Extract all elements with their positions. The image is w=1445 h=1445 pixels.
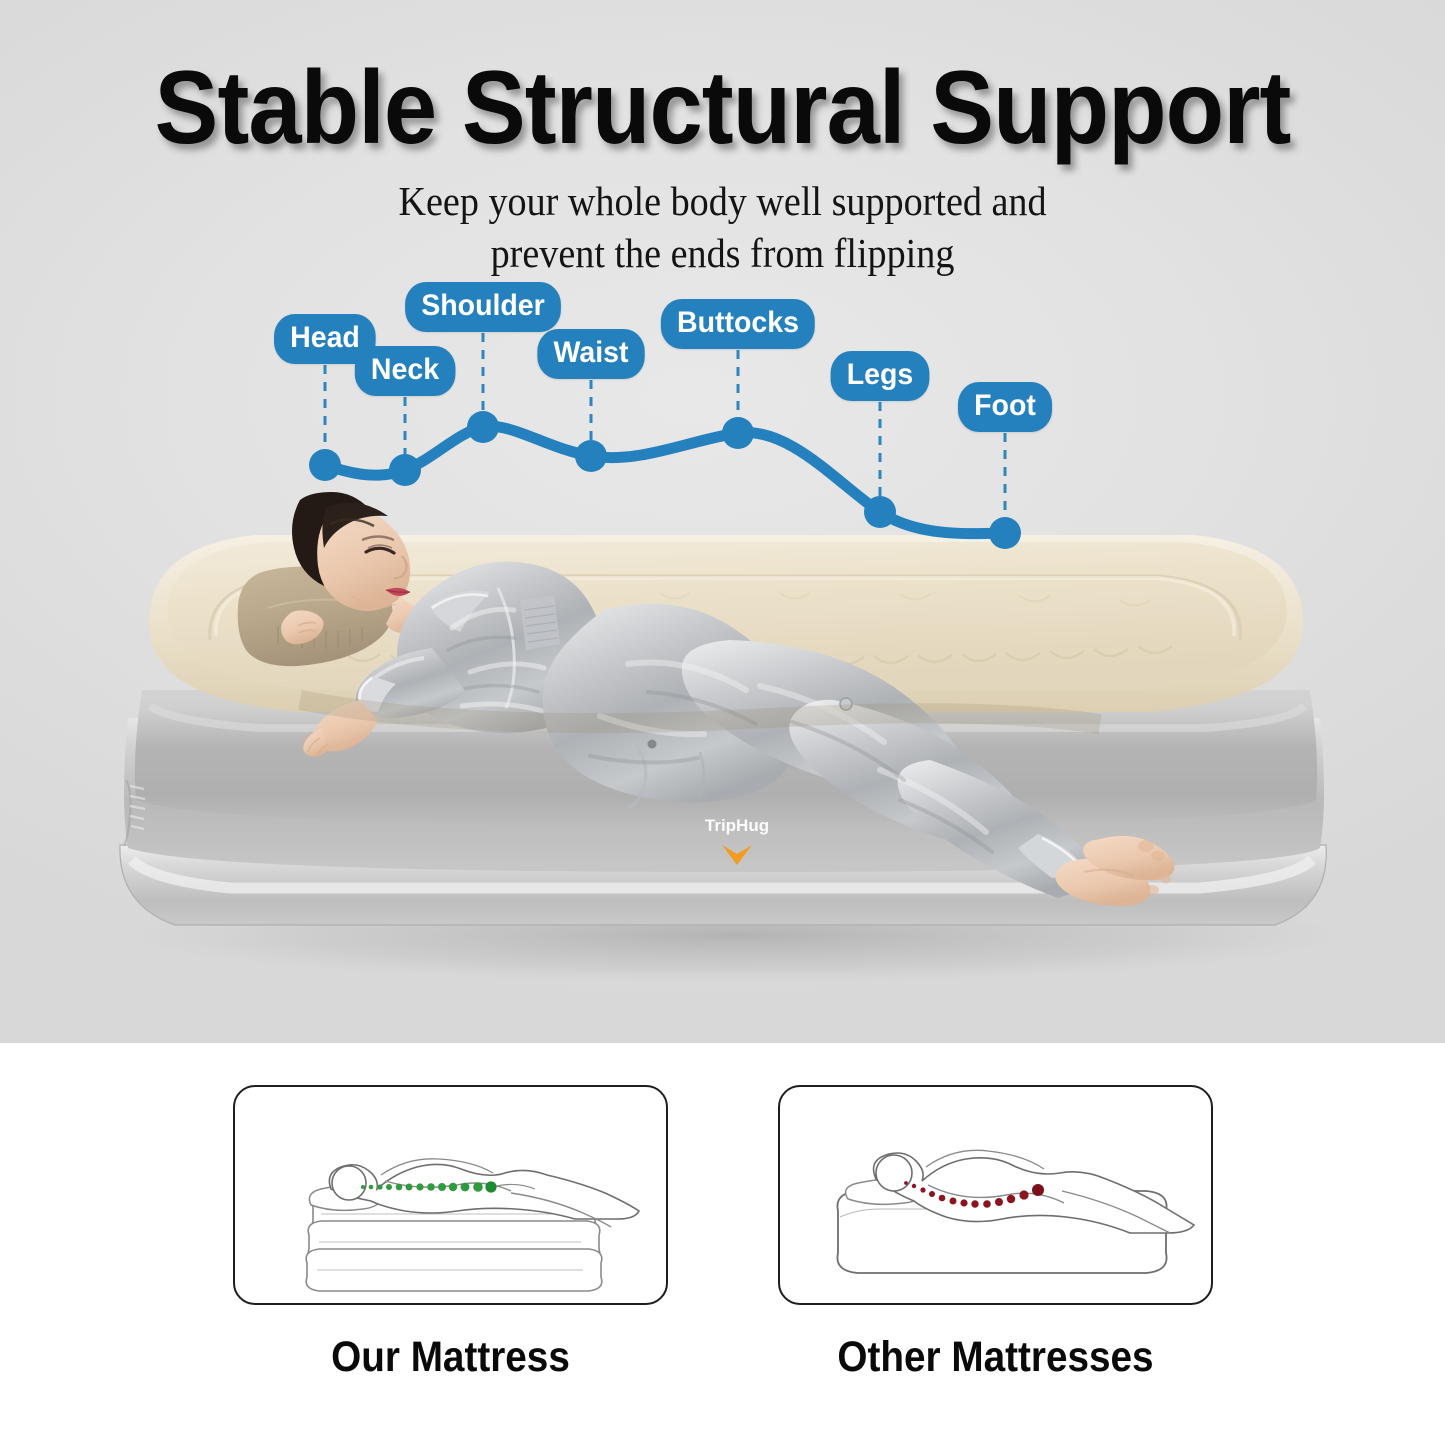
other-mattress-caption: Other Mattresses xyxy=(799,1333,1191,1382)
svg-text:TripHug: TripHug xyxy=(705,816,769,835)
product-photo: TripHug xyxy=(0,0,1445,1043)
comparison-section: Our Mattress xyxy=(0,1043,1445,1445)
comparison-card-others: Other Mattresses xyxy=(778,1085,1213,1382)
our-mattress-caption: Our Mattress xyxy=(254,1333,646,1382)
hero-section: Stable Structural Support Keep your whol… xyxy=(0,0,1445,1043)
comparison-card-ours: Our Mattress xyxy=(233,1085,668,1382)
other-mattress-diagram-panel xyxy=(778,1085,1213,1305)
comparison-row: Our Mattress xyxy=(0,1085,1445,1382)
infographic-root: Stable Structural Support Keep your whol… xyxy=(0,0,1445,1445)
our-mattress-diagram-panel xyxy=(233,1085,668,1305)
